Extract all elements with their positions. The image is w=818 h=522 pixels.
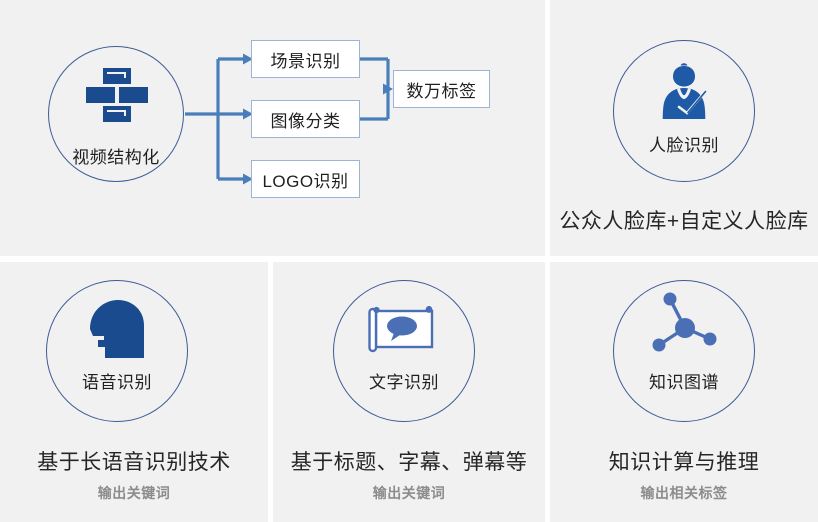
caption-knowledge-graph: 知识计算与推理 (550, 446, 818, 476)
knowledge-graph-icon (642, 288, 726, 362)
panel-knowledge-graph: 知识图谱 知识计算与推理 输出相关标签 (550, 262, 818, 522)
flow-box-scene-recognition[interactable]: 场景识别 (251, 40, 360, 78)
face-recognition-icon (653, 62, 715, 124)
panel-text-recognition: 文字识别 基于标题、字幕、弹幕等 输出关键词 (273, 262, 545, 522)
flow-box-label: 场景识别 (271, 47, 341, 72)
text-banner-icon (364, 302, 444, 358)
circle-label-text-recognition: 文字识别 (333, 368, 475, 393)
caption-speech-recognition: 基于长语音识别技术 (0, 446, 268, 476)
panel-video-structuring: 视频结构化 (0, 0, 545, 256)
caption-face-recognition: 公众人脸库+自定义人脸库 (550, 205, 818, 235)
panel-speech-recognition: 语音识别 基于长语音识别技术 输出关键词 (0, 262, 268, 522)
flow-box-logo-recognition[interactable]: LOGO识别 (251, 160, 360, 198)
circle-label-face-recognition: 人脸识别 (613, 131, 755, 156)
flow-box-image-classification[interactable]: 图像分类 (251, 100, 360, 138)
circle-label-knowledge-graph: 知识图谱 (613, 368, 755, 393)
slide-canvas: 视频结构化 (0, 0, 818, 522)
subcaption-knowledge-graph: 输出相关标签 (550, 483, 818, 503)
flow-box-label: LOGO识别 (262, 167, 348, 192)
flow-box-label: 图像分类 (271, 107, 341, 132)
subcaption-speech-recognition: 输出关键词 (0, 483, 268, 503)
panel-face-recognition: 人脸识别 公众人脸库+自定义人脸库 (550, 0, 818, 256)
circle-label-video-structuring: 视频结构化 (48, 143, 184, 168)
flow-box-tens-of-thousands-tags[interactable]: 数万标签 (393, 70, 490, 108)
circle-label-speech-recognition: 语音识别 (46, 368, 188, 393)
speech-head-icon (88, 298, 146, 360)
flow-box-label: 数万标签 (407, 77, 477, 102)
subcaption-text-recognition: 输出关键词 (273, 483, 545, 503)
video-structuring-icon (86, 66, 148, 124)
caption-text-recognition: 基于标题、字幕、弹幕等 (273, 446, 545, 476)
